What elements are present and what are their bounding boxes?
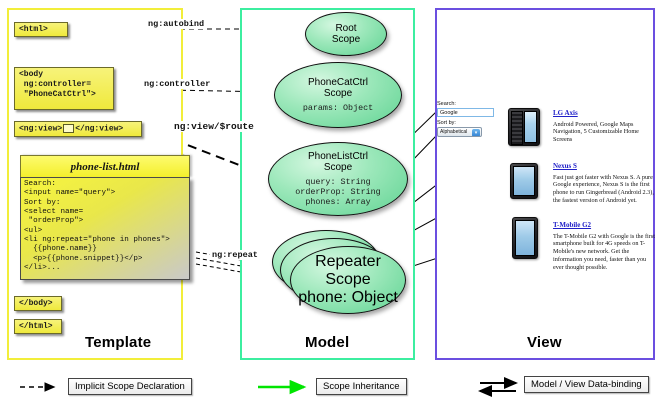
label-ng-autobind: ng:autobind xyxy=(146,19,206,29)
tag-body-open: <body ng:controller= "PhoneCatCtrl"> xyxy=(14,67,114,110)
label-ng-view-route: ng:view/$route xyxy=(172,121,256,132)
scope-repeater-group: Repeater Scope phone: Object xyxy=(272,230,408,316)
phone-screen-3 xyxy=(515,220,535,256)
scope-phonecatctrl-title-line2: Scope xyxy=(324,88,352,99)
scope-repeater-title-line2: Scope xyxy=(325,271,370,289)
tag-html-close: </html> xyxy=(14,319,62,334)
scope-root: Root Scope xyxy=(305,12,387,56)
scope-repeater-props: phone: Object xyxy=(298,289,398,307)
legend-label-data-binding: Model / View Data-binding xyxy=(524,376,649,393)
ng-view-close-text: </ng:view> xyxy=(75,125,123,134)
phone-listing-3-snippet: The T-Mobile G2 with Google is the first… xyxy=(553,233,655,272)
legend-item-implicit-scope: Implicit Scope Declaration xyxy=(20,378,192,395)
legend-label-scope-inheritance: Scope Inheritance xyxy=(316,378,407,395)
search-label: Search: xyxy=(437,101,497,107)
phone-image-2 xyxy=(510,163,538,199)
phone-image-3 xyxy=(512,217,538,259)
phone-listing-2-title[interactable]: Nexus S xyxy=(553,163,655,171)
phone-keyboard-icon xyxy=(511,111,523,145)
phone-listing-2-snippet: Fast just got faster with Nexus S. A pur… xyxy=(553,174,655,205)
phone-listing-1: LG Axis Android Powered, Google Maps Nav… xyxy=(553,110,655,144)
scope-root-title-line1: Root xyxy=(335,23,356,34)
phone-listing-3-title[interactable]: T-Mobile G2 xyxy=(553,222,655,230)
ng-view-slot-icon xyxy=(63,124,74,133)
legend-label-implicit-scope: Implicit Scope Declaration xyxy=(68,378,192,395)
phone-listing-2: Nexus S Fast just got faster with Nexus … xyxy=(553,163,655,205)
template-code-block: Search: <input name="query"> Sort by: <s… xyxy=(20,177,190,280)
legend: Implicit Scope Declaration Scope Inherit… xyxy=(0,372,660,405)
tag-ng-view: <ng:view></ng:view> xyxy=(14,121,142,137)
panel-label-view: View xyxy=(527,334,562,351)
scope-phonelistctrl-title-line1: PhoneListCtrl xyxy=(308,151,368,162)
tag-body-close: </body> xyxy=(14,296,62,311)
phone-screen-1 xyxy=(524,111,537,143)
scope-phonelistctrl: PhoneListCtrl Scope query: String orderP… xyxy=(268,142,408,216)
scope-phonecatctrl: PhoneCatCtrl Scope params: Object xyxy=(274,62,402,128)
angularjs-architecture-diagram: Template Model View <html> <body ng:cont… xyxy=(0,0,660,405)
legend-item-scope-inheritance: Scope Inheritance xyxy=(290,378,407,395)
search-form: Search: Google Sort by: Alphabetical ▾ xyxy=(437,101,497,137)
file-callout-title: phone-list.html xyxy=(20,155,190,177)
phone-listing-1-title[interactable]: LG Axis xyxy=(553,110,655,118)
sort-select-value: Alphabetical xyxy=(440,129,467,135)
tag-html-open: <html> xyxy=(14,22,68,37)
scope-repeater-title-line1: Repeater xyxy=(315,253,381,271)
scope-phonecatctrl-props: params: Object xyxy=(303,103,373,113)
scope-repeater-front: Repeater Scope phone: Object xyxy=(290,246,406,314)
phone-listing-3: T-Mobile G2 The T-Mobile G2 with Google … xyxy=(553,222,655,271)
phone-image-1 xyxy=(508,108,540,146)
ng-view-open-text: <ng:view> xyxy=(19,125,62,134)
label-ng-controller: ng:controller xyxy=(142,79,212,89)
phone-listing-1-snippet: Android Powered, Google Maps Navigation,… xyxy=(553,121,655,144)
label-ng-repeat: ng:repeat xyxy=(210,250,260,260)
panel-label-template: Template xyxy=(85,334,151,351)
chevron-down-icon: ▾ xyxy=(472,129,480,137)
search-input[interactable]: Google xyxy=(437,108,494,117)
scope-phonelistctrl-title-line2: Scope xyxy=(324,162,352,173)
sort-label: Sort by: xyxy=(437,120,497,126)
phone-screen-2 xyxy=(513,166,535,196)
scope-root-title-line2: Scope xyxy=(332,34,360,45)
scope-phonelistctrl-props: query: String orderProp: String phones: … xyxy=(295,177,380,207)
legend-item-data-binding: Model / View Data-binding xyxy=(465,376,649,393)
scope-phonecatctrl-title-line1: PhoneCatCtrl xyxy=(308,77,368,88)
panel-label-model: Model xyxy=(305,334,349,351)
sort-select[interactable]: Alphabetical ▾ xyxy=(437,127,482,137)
